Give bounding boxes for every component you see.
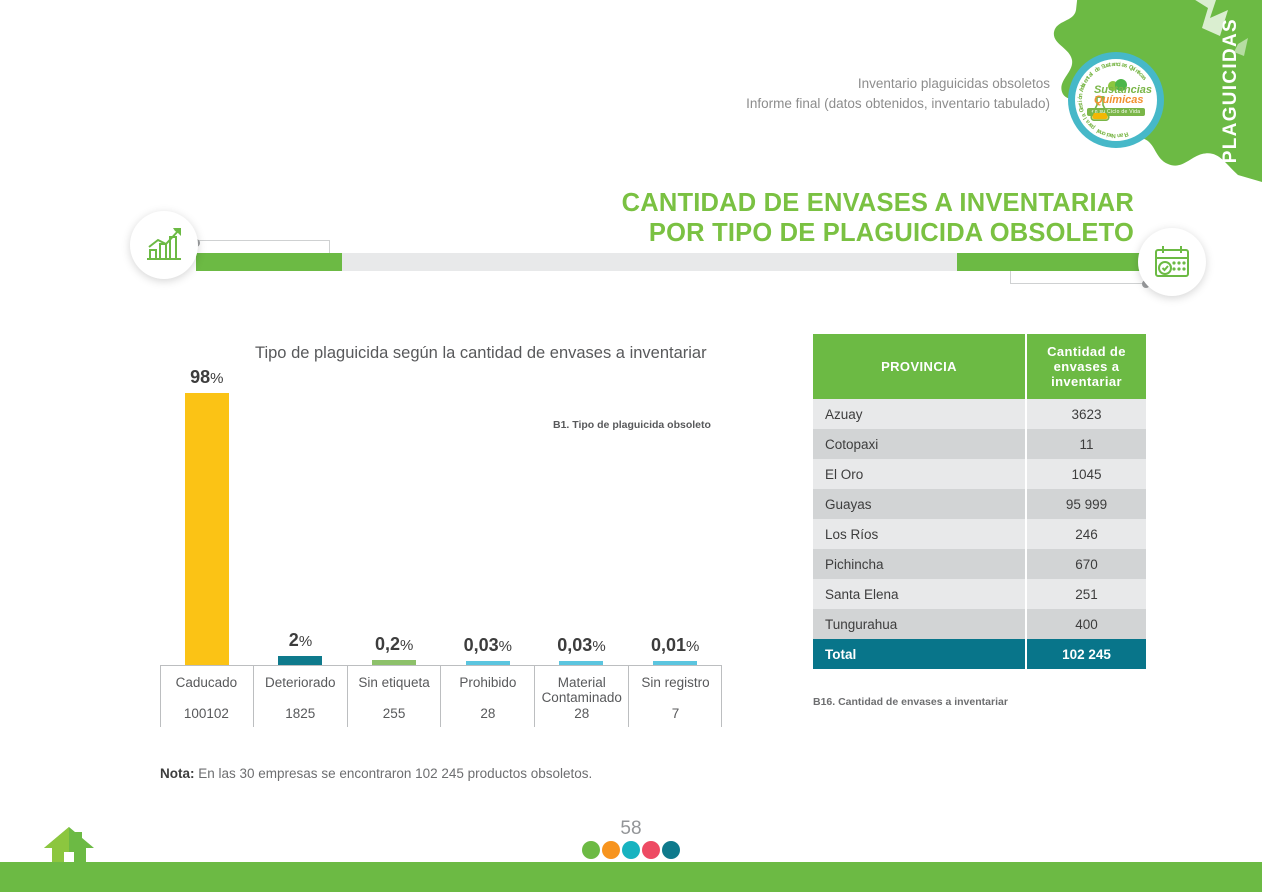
bar-value-label: 0,01%: [651, 635, 699, 656]
brand-ring-text: Plan Nacional para la Gestión Ambiental …: [1077, 61, 1155, 139]
bar-value-label: 0,2%: [375, 634, 413, 655]
bar-rect: [185, 393, 229, 665]
table-row: Los Ríos246: [813, 519, 1146, 549]
section-tab-plaguicidas: PLAGUICIDAS: [1200, 0, 1262, 182]
cell-cantidad: 251: [1025, 579, 1146, 609]
footer-dot: [602, 841, 620, 859]
cell-cantidad: 3623: [1025, 399, 1146, 429]
cell-provincia: Santa Elena: [813, 579, 1025, 609]
axis-label-cell: Caducado100102: [160, 666, 254, 727]
cell-provincia: Los Ríos: [813, 519, 1025, 549]
axis-category-label: Material Contaminado: [535, 675, 628, 705]
header-meta: Inventario plaguicidas obsoletos Informe…: [746, 74, 1050, 114]
axis-count-value: 255: [383, 706, 406, 721]
axis-count-value: 28: [480, 706, 495, 721]
axis-category-label: Sin registro: [641, 675, 709, 690]
note: Nota: En las 30 empresas se encontraron …: [160, 766, 592, 781]
bar-value-label: 2%: [289, 630, 312, 651]
axis-count-value: 1825: [285, 706, 315, 721]
footer-dot: [622, 841, 640, 859]
cell-total-label: Total: [813, 639, 1025, 669]
cell-cantidad: 400: [1025, 609, 1146, 639]
axis-label-cell: Deteriorado1825: [254, 666, 348, 727]
bar-column: 0,03%: [441, 360, 535, 665]
note-label: Nota:: [160, 766, 195, 781]
bar-column: 2%: [254, 360, 348, 665]
column-header-cantidad: Cantidad de envases a inventariar: [1025, 334, 1146, 399]
band-segment-right: [957, 253, 1160, 271]
bar-column: 98%: [160, 360, 254, 665]
band-connector-bottom: [1010, 271, 1146, 284]
bar-column: 0,2%: [347, 360, 441, 665]
bar-value-label: 0,03%: [464, 635, 512, 656]
bar-value-label: 0,03%: [557, 635, 605, 656]
axis-category-label: Deteriorado: [265, 675, 336, 690]
table-header-row: PROVINCIA Cantidad de envases a inventar…: [813, 334, 1146, 399]
cell-provincia: Tungurahua: [813, 609, 1025, 639]
header-line-2: Informe final (datos obtenidos, inventar…: [746, 94, 1050, 114]
axis-count-value: 100102: [184, 706, 229, 721]
bar-column: 0,03%: [535, 360, 629, 665]
provinces-table: PROVINCIA Cantidad de envases a inventar…: [813, 334, 1146, 669]
band-connector-top: [196, 240, 330, 253]
page-number: 58: [0, 818, 1262, 840]
cell-provincia: Pichincha: [813, 549, 1025, 579]
header-line-1: Inventario plaguicidas obsoletos: [746, 74, 1050, 94]
axis-label-cell: Sin registro7: [629, 666, 722, 727]
table-row: Pichincha670: [813, 549, 1146, 579]
slide-page: PLAGUICIDAS Inventario plaguicidas obsol…: [0, 0, 1262, 892]
calendar-check-icon: [1138, 228, 1206, 296]
table-caption: B16. Cantidad de envases a inventariar: [813, 696, 1008, 708]
cell-provincia: Cotopaxi: [813, 429, 1025, 459]
axis-category-label: Prohibido: [459, 675, 516, 690]
axis-count-value: 7: [672, 706, 680, 721]
cell-cantidad: 95 999: [1025, 489, 1146, 519]
home-icon[interactable]: [41, 824, 97, 864]
table-row: Azuay3623: [813, 399, 1146, 429]
chart-axis-label-grid: Caducado100102Deteriorado1825Sin etiquet…: [160, 665, 722, 727]
bar-chart: 98%2%0,2%0,03%0,03%0,01%: [160, 360, 722, 665]
cell-provincia: Guayas: [813, 489, 1025, 519]
cell-cantidad: 670: [1025, 549, 1146, 579]
axis-label-cell: Prohibido28: [441, 666, 535, 727]
bar-chart-growth-icon: [130, 211, 198, 279]
axis-count-value: 28: [574, 706, 589, 721]
table-row: Tungurahua400: [813, 609, 1146, 639]
cell-total-value: 102 245: [1025, 639, 1146, 669]
bar-value-label: 98%: [190, 367, 223, 388]
bar-column: 0,01%: [628, 360, 722, 665]
section-tab-label: PLAGUICIDAS: [1220, 18, 1242, 163]
footer-strip: [0, 862, 1262, 892]
brand-logo: Sustancias Químicas en su Ciclo de Vida …: [1068, 52, 1164, 148]
cell-cantidad: 1045: [1025, 459, 1146, 489]
table-row: Santa Elena251: [813, 579, 1146, 609]
table-row: El Oro1045: [813, 459, 1146, 489]
footer-dots: [0, 841, 1262, 859]
table-total-row: Total102 245: [813, 639, 1146, 669]
footer-dot: [582, 841, 600, 859]
cell-cantidad: 11: [1025, 429, 1146, 459]
column-header-provincia: PROVINCIA: [813, 334, 1025, 399]
cell-cantidad: 246: [1025, 519, 1146, 549]
table-row: Guayas95 999: [813, 489, 1146, 519]
table-row: Cotopaxi11: [813, 429, 1146, 459]
axis-label-cell: Material Contaminado28: [535, 666, 629, 727]
footer-dot: [642, 841, 660, 859]
cell-provincia: El Oro: [813, 459, 1025, 489]
bar-rect: [278, 656, 322, 665]
band-segment-left: [196, 253, 342, 271]
cell-provincia: Azuay: [813, 399, 1025, 429]
axis-category-label: Caducado: [176, 675, 238, 690]
axis-label-cell: Sin etiqueta255: [348, 666, 442, 727]
note-text: En las 30 empresas se encontraron 102 24…: [195, 766, 593, 781]
footer-dot: [662, 841, 680, 859]
axis-category-label: Sin etiqueta: [358, 675, 429, 690]
